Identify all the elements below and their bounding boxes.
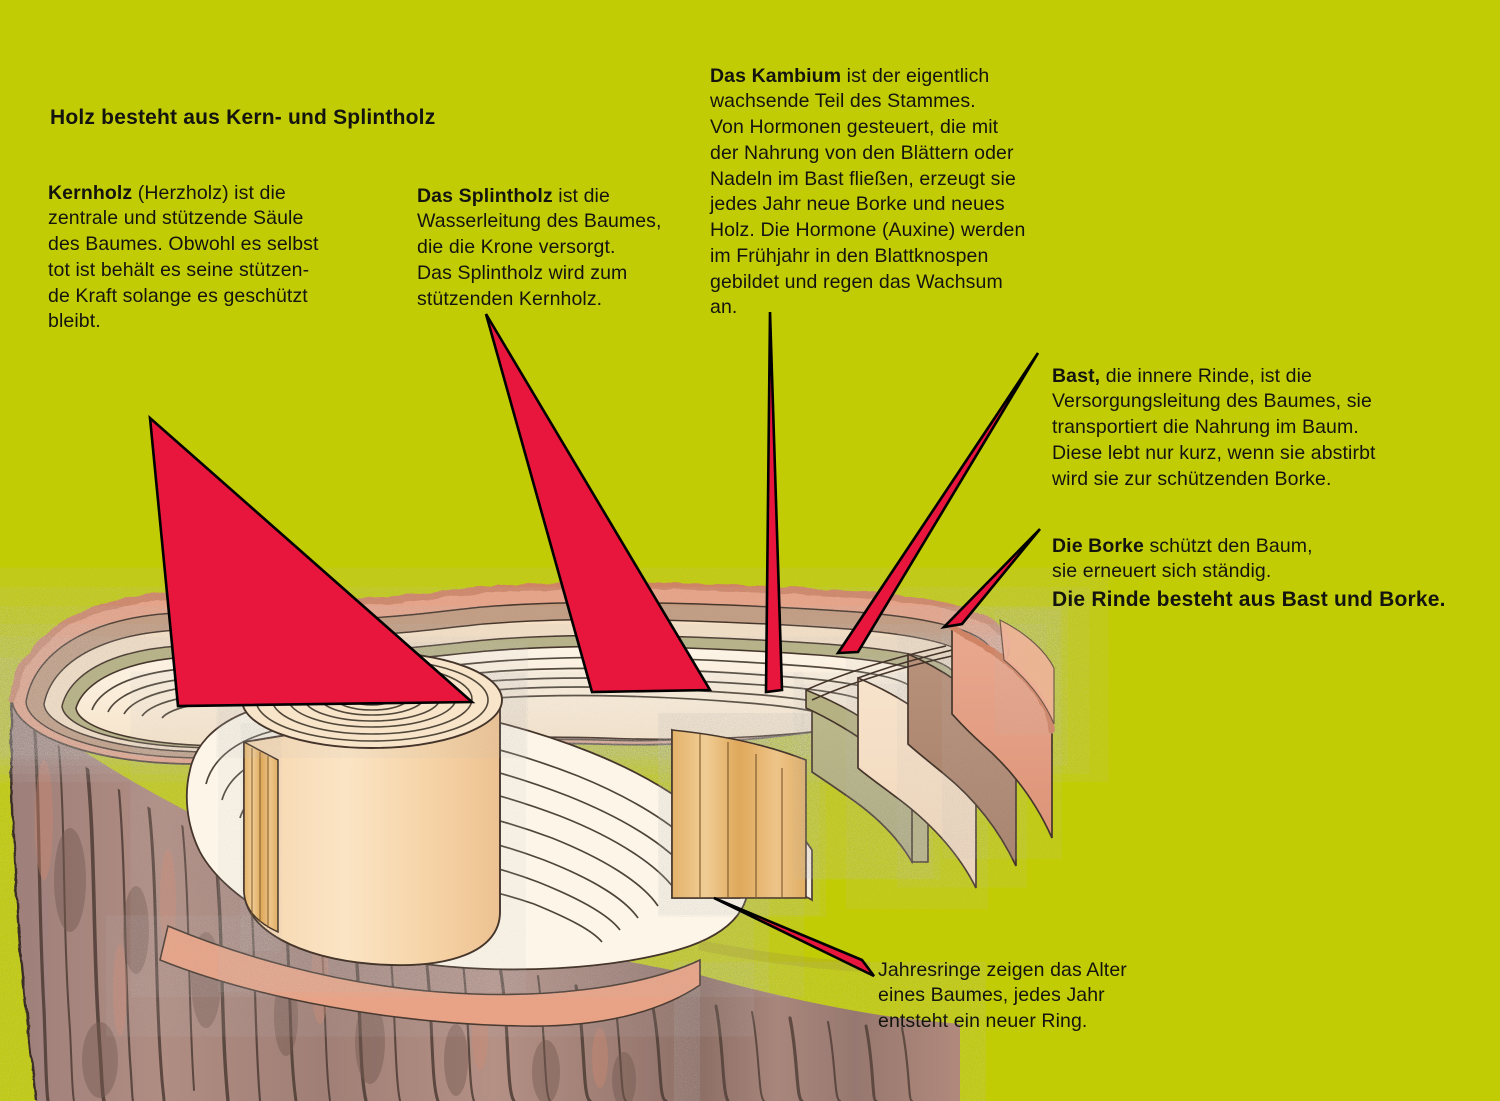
diagram-canvas: Holz besteht aus Kern- und Splintholz Ke… [0,0,1500,1101]
callout-kernholz-lead: Kernholz [48,182,132,204]
callout-bast-body: die innere Rinde, ist die Versorgungslei… [1052,365,1376,490]
callout-bast-lead: Bast, [1052,365,1100,387]
callout-jahresringe-body: Jahresringe zeigen das Alter eines Baume… [878,959,1127,1032]
callout-borke: Die Borke schützt den Baum, sie erneuert… [1052,508,1452,585]
page-title: Holz besteht aus Kern- und Splintholz [50,104,570,132]
callout-kernholz: Kernholz (Herzholz) ist die zentrale und… [48,155,393,335]
rinde-summary-heading: Die Rinde besteht aus Bast und Borke. [1052,586,1482,614]
callout-kambium-body: ist der eigentlich wachsende Teil des St… [710,65,1025,319]
callout-bast: Bast, die innere Rinde, ist die Versorgu… [1052,338,1472,492]
callout-borke-lead: Die Borke [1052,535,1144,557]
callout-splintholz: Das Splintholz ist die Wasserleitung des… [417,158,717,312]
splintholz-pointer [486,314,710,692]
callout-kernholz-body: (Herzholz) ist die zentrale und stützend… [48,182,319,333]
kernholz-pointer [150,418,472,706]
callout-kambium-lead: Das Kambium [710,65,841,87]
jahresringe-pointer [714,898,874,976]
kambium-pointer [766,312,782,692]
callout-jahresringe: Jahresringe zeigen das Alter eines Baume… [878,932,1198,1035]
borke-pointer [944,529,1040,627]
callout-splintholz-lead: Das Splintholz [417,185,553,207]
callout-kambium: Das Kambium ist der eigentlich wachsende… [710,38,1090,321]
bast-pointer [838,353,1038,653]
